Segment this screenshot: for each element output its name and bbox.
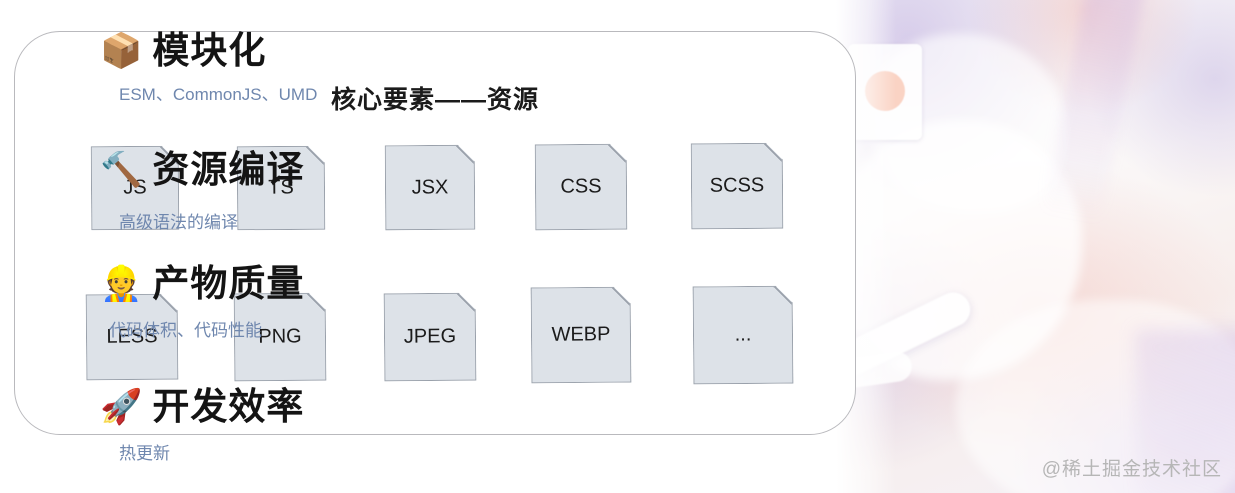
page-fold-icon: [612, 288, 630, 306]
file-card-label: JSX: [386, 176, 474, 200]
feature-subtitle: 高级语法的编译: [0, 208, 399, 233]
file-card-label: WEBP: [532, 323, 630, 347]
file-card-label: ...: [694, 323, 792, 347]
page-fold-icon: [608, 145, 626, 163]
feature-heading: 🔨 资源编译: [0, 151, 399, 190]
file-card-scss[interactable]: SCSS: [691, 143, 784, 230]
feature-heading: 🚀 开发效率: [0, 388, 399, 427]
feature-heading: 📦 模块化: [0, 32, 399, 71]
feature-title: 开发效率: [152, 388, 304, 427]
feature-subtitle: 热更新: [0, 439, 399, 464]
page-fold-icon: [456, 146, 474, 164]
hammer-icon: 🔨: [100, 153, 142, 187]
file-card-webp[interactable]: WEBP: [531, 287, 632, 384]
feature-title: 产物质量: [152, 265, 304, 304]
feature-heading: 👷 产物质量: [0, 265, 399, 304]
file-card-label: CSS: [536, 175, 626, 199]
rocket-icon: 🚀: [100, 390, 142, 424]
feature-subtitle: 代码体积、代码性能: [0, 316, 399, 341]
file-card-more[interactable]: ...: [693, 286, 794, 385]
page-fold-icon: [457, 294, 475, 312]
slide-canvas: 核心要素——资源 JS TS JSX CSS SCSS LESS: [0, 0, 1235, 493]
background-artwork: [836, 0, 1235, 493]
feature-item-asset-compilation: 🔨 资源编译 高级语法的编译: [0, 151, 399, 233]
feature-item-dev-efficiency: 🚀 开发效率 热更新: [0, 388, 399, 464]
feature-title: 模块化: [152, 32, 266, 71]
feature-item-modularization: 📦 模块化 ESM、CommonJS、UMD: [0, 32, 399, 105]
construction-worker-icon: 👷: [100, 267, 142, 301]
page-fold-icon: [764, 144, 782, 162]
watermark: @稀土掘金技术社区: [1042, 454, 1222, 481]
page-fold-icon: [774, 287, 792, 305]
package-box-icon: 📦: [100, 34, 142, 68]
feature-subtitle: ESM、CommonJS、UMD: [0, 80, 399, 105]
feature-item-output-quality: 👷 产物质量 代码体积、代码性能: [0, 265, 399, 341]
file-card-label: SCSS: [692, 174, 782, 198]
feature-title: 资源编译: [152, 151, 304, 190]
file-card-css[interactable]: CSS: [535, 144, 628, 231]
